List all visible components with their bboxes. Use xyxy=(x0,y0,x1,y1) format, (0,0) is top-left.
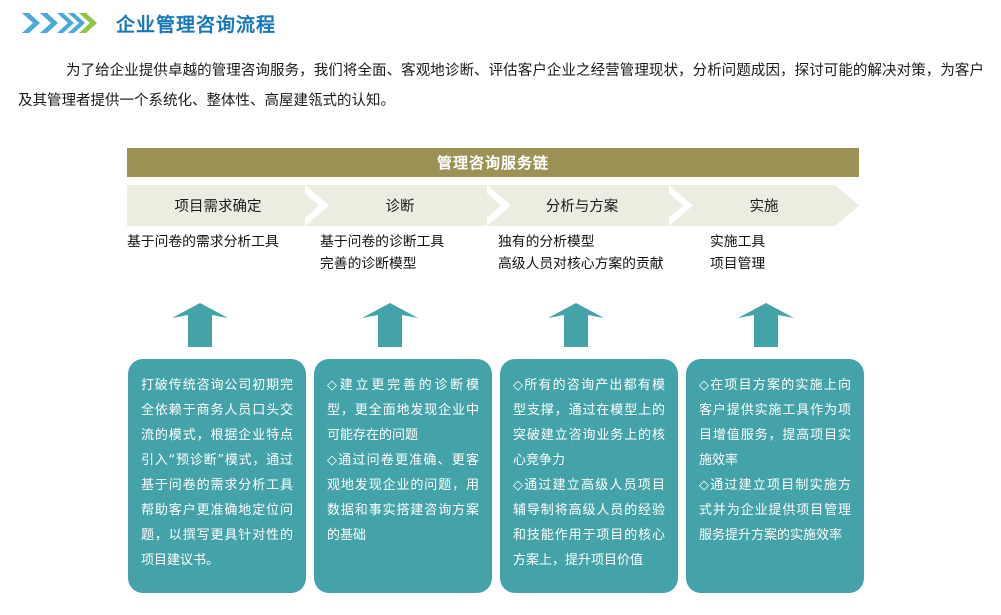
stage-label-4: 实施 xyxy=(750,195,779,216)
arrow-up-icon-1 xyxy=(172,303,228,347)
page-title: 企业管理咨询流程 xyxy=(116,10,276,37)
page-header: 企业管理咨询流程 xyxy=(0,0,1001,46)
arrow-up-icon-4 xyxy=(738,303,794,347)
stage-chevron-row: 项目需求确定 诊断 分析与方案 实施 xyxy=(127,185,859,226)
stage-item-1[interactable]: 项目需求确定 xyxy=(127,185,309,226)
detail-card-2[interactable]: ◇建立更完善的诊断模型，更全面地发现企业中可能存在的问题 ◇通过问卷更准确、更客… xyxy=(314,359,492,593)
service-chain-banner: 管理咨询服务链 xyxy=(127,148,859,177)
stage-item-3[interactable]: 分析与方案 xyxy=(491,185,673,226)
detail-card-text-1: 打破传统咨询公司初期完全依赖于商务人员口头交流的模式，根据企业特点引入“预诊断”… xyxy=(141,373,293,573)
service-chain-title: 管理咨询服务链 xyxy=(437,152,549,173)
detail-card-3[interactable]: ◇所有的咨询产出都有模型支撑，通过在模型上的突破建立咨询业务上的核心竞争力 ◇通… xyxy=(500,359,678,593)
deliverable-text-2: 基于问卷的诊断工具 完善的诊断模型 xyxy=(320,231,444,275)
arrow-up-icon-2 xyxy=(362,303,418,347)
service-chain-diagram: 管理咨询服务链 项目需求确定 诊断 分析与方案 实施 xyxy=(127,148,859,226)
detail-card-text-4: ◇在项目方案的实施上向客户提供实施工具作为项目增值服务，提高项目实施效率 ◇通过… xyxy=(699,373,851,548)
stage-item-4[interactable]: 实施 xyxy=(673,185,855,226)
intro-paragraph: 为了给企业提供卓越的管理咨询服务，我们将全面、客观地诊断、评估客户企业之经营管理… xyxy=(18,56,984,116)
arrow-up-icon-3 xyxy=(548,303,604,347)
detail-card-1[interactable]: 打破传统咨询公司初期完全依赖于商务人员口头交流的模式，根据企业特点引入“预诊断”… xyxy=(128,359,306,593)
stage-label-1: 项目需求确定 xyxy=(175,195,262,216)
double-chevron-icon xyxy=(20,12,108,34)
detail-card-text-3: ◇所有的咨询产出都有模型支撑，通过在模型上的突破建立咨询业务上的核心竞争力 ◇通… xyxy=(513,373,665,573)
deliverable-text-1: 基于问卷的需求分析工具 xyxy=(127,231,279,253)
detail-card-text-2: ◇建立更完善的诊断模型，更全面地发现企业中可能存在的问题 ◇通过问卷更准确、更客… xyxy=(327,373,479,548)
stage-label-3: 分析与方案 xyxy=(546,195,619,216)
deliverable-text-3: 独有的分析模型 高级人员对核心方案的贡献 xyxy=(498,231,664,275)
stage-label-2: 诊断 xyxy=(386,195,415,216)
detail-card-4[interactable]: ◇在项目方案的实施上向客户提供实施工具作为项目增值服务，提高项目实施效率 ◇通过… xyxy=(686,359,864,593)
deliverable-text-4: 实施工具 项目管理 xyxy=(710,231,765,275)
stage-item-2[interactable]: 诊断 xyxy=(309,185,491,226)
